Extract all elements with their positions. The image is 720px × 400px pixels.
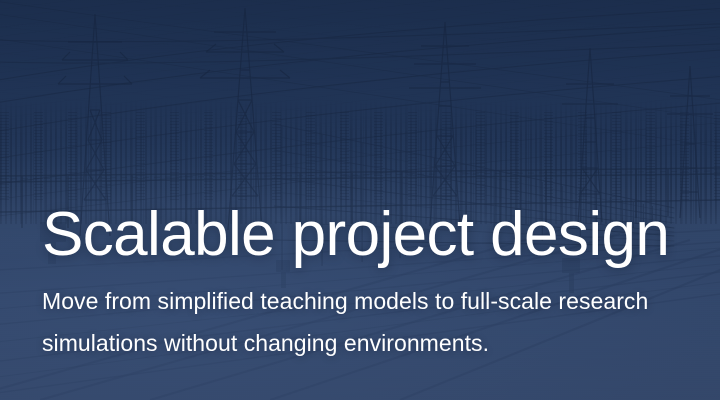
hero-subtitle: Move from simplified teaching models to … [42, 280, 690, 364]
hero-content: Scalable project design Move from simpli… [42, 0, 690, 400]
hero-banner: Scalable project design Move from simpli… [0, 0, 720, 400]
hero-title: Scalable project design [42, 203, 690, 266]
